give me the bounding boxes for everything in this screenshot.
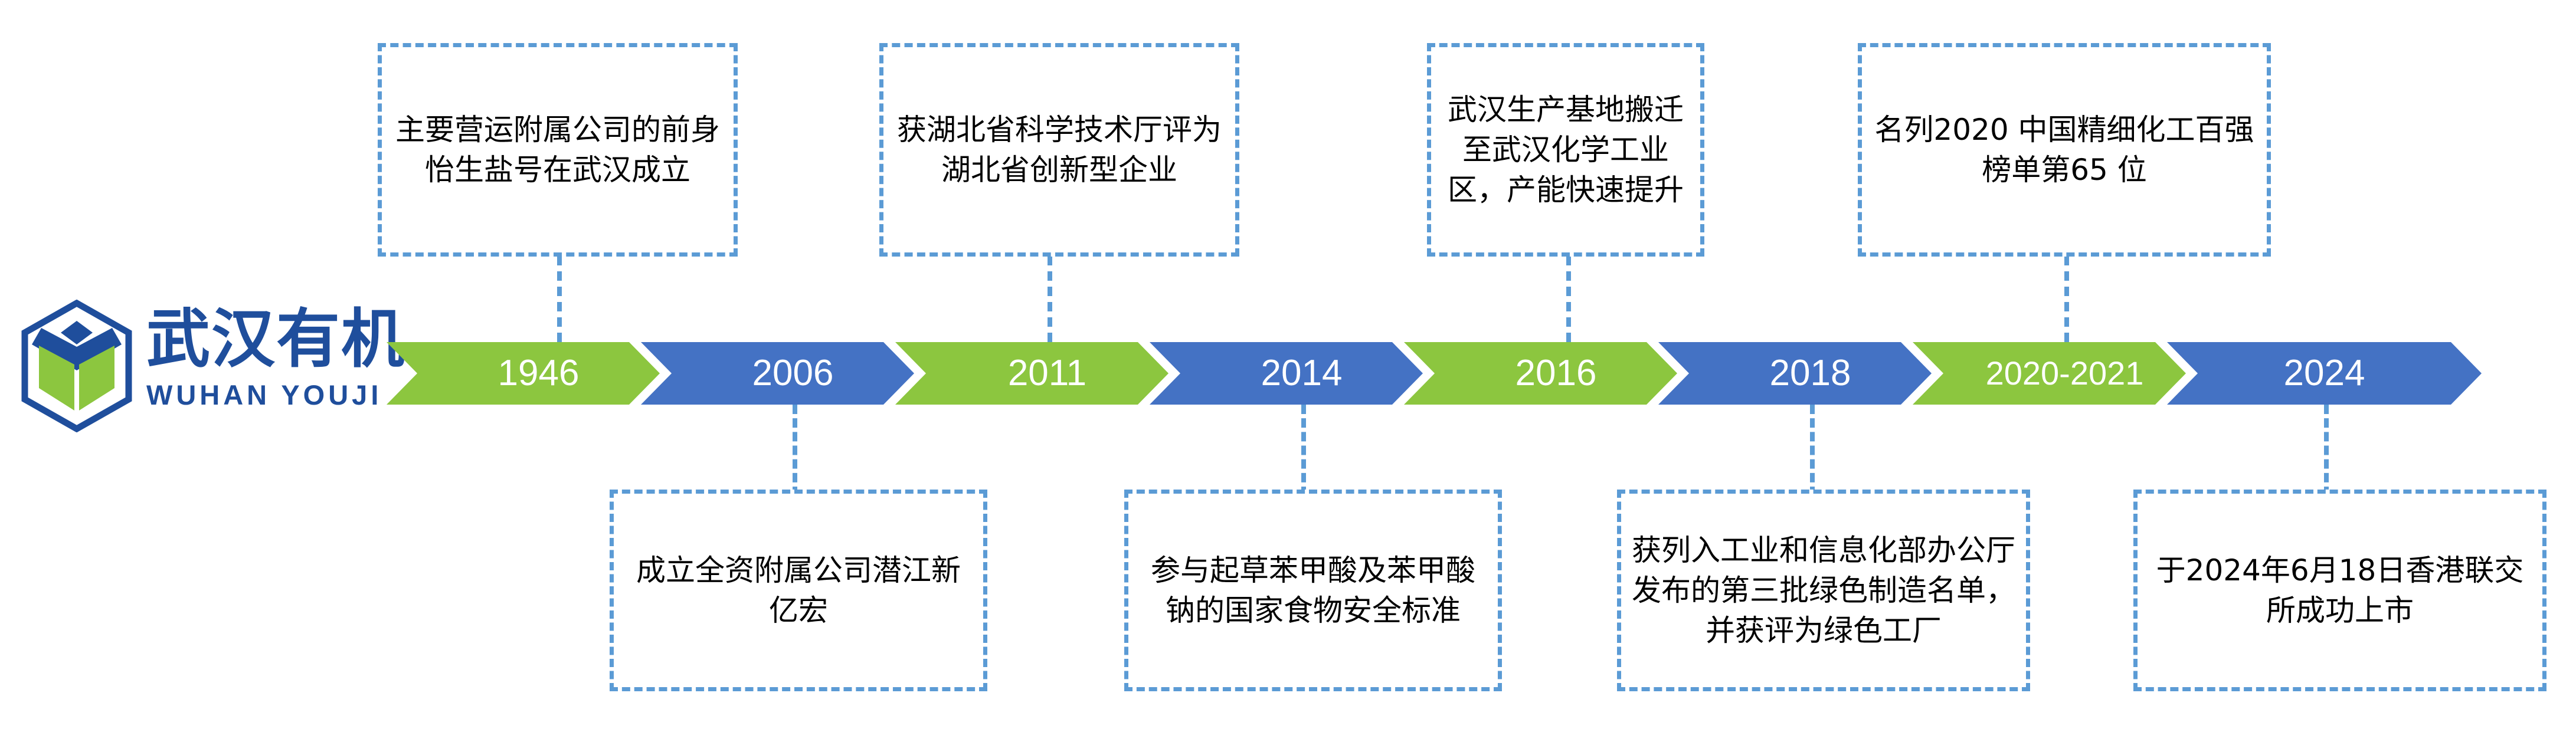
connector-stem-2018	[1810, 405, 1815, 496]
callout-2014-text: 参与起草苯甲酸及苯甲酸钠的国家食物安全标准	[1139, 550, 1487, 631]
callout-2006[interactable]: 成立全资附属公司潜江新亿宏	[610, 490, 987, 691]
connector-stem-2016	[1566, 256, 1571, 342]
chevron-2020-2021[interactable]	[1913, 342, 2186, 405]
callout-2020-2021[interactable]: 名列2020 中国精细化工百强榜单第65 位	[1858, 43, 2271, 257]
callout-2018-text: 获列入工业和信息化部办公厅发布的第三批绿色制造名单，并获评为绿色工厂	[1632, 530, 2015, 651]
callout-2016-text: 武汉生产基地搬迁至武汉化学工业区，产能快速提升	[1442, 90, 1690, 210]
callout-2011[interactable]: 获湖北省科学技术厅评为湖北省创新型企业	[879, 43, 1239, 257]
connector-stem-2024	[2324, 405, 2329, 496]
chevron-1946[interactable]	[387, 342, 660, 405]
callout-2011-text: 获湖北省科学技术厅评为湖北省创新型企业	[894, 110, 1225, 190]
callout-2014[interactable]: 参与起草苯甲酸及苯甲酸钠的国家食物安全标准	[1124, 490, 1502, 691]
chevron-2011[interactable]	[895, 342, 1168, 405]
timeline-infographic: 武汉有机 WUHAN YOUJI 1946 2006 2011 2014 201…	[0, 0, 2576, 729]
chevron-2016[interactable]	[1404, 342, 1677, 405]
callout-2006-text: 成立全资附属公司潜江新亿宏	[624, 550, 973, 631]
callout-2024[interactable]: 于2024年6月18日香港联交所成功上市	[2133, 490, 2546, 691]
callout-1946-text: 主要营运附属公司的前身怡生盐号在武汉成立	[392, 110, 723, 190]
callout-2016[interactable]: 武汉生产基地搬迁至武汉化学工业区，产能快速提升	[1427, 43, 1704, 257]
connector-stem-2014	[1301, 405, 1306, 496]
chevron-2024[interactable]	[2167, 342, 2482, 405]
callout-1946[interactable]: 主要营运附属公司的前身怡生盐号在武汉成立	[378, 43, 738, 257]
chevron-2014[interactable]	[1150, 342, 1423, 405]
callout-2020-2021-text: 名列2020 中国精细化工百强榜单第65 位	[1873, 110, 2256, 190]
connector-stem-2006	[793, 405, 797, 496]
chevron-2018[interactable]	[1658, 342, 1932, 405]
chevron-2006[interactable]	[641, 342, 914, 405]
connector-stem-2011	[1048, 256, 1052, 342]
connector-stem-1946	[557, 256, 562, 342]
connector-stem-2020-2021	[2064, 256, 2069, 342]
callout-2018[interactable]: 获列入工业和信息化部办公厅发布的第三批绿色制造名单，并获评为绿色工厂	[1617, 490, 2030, 691]
callout-2024-text: 于2024年6月18日香港联交所成功上市	[2148, 550, 2532, 631]
